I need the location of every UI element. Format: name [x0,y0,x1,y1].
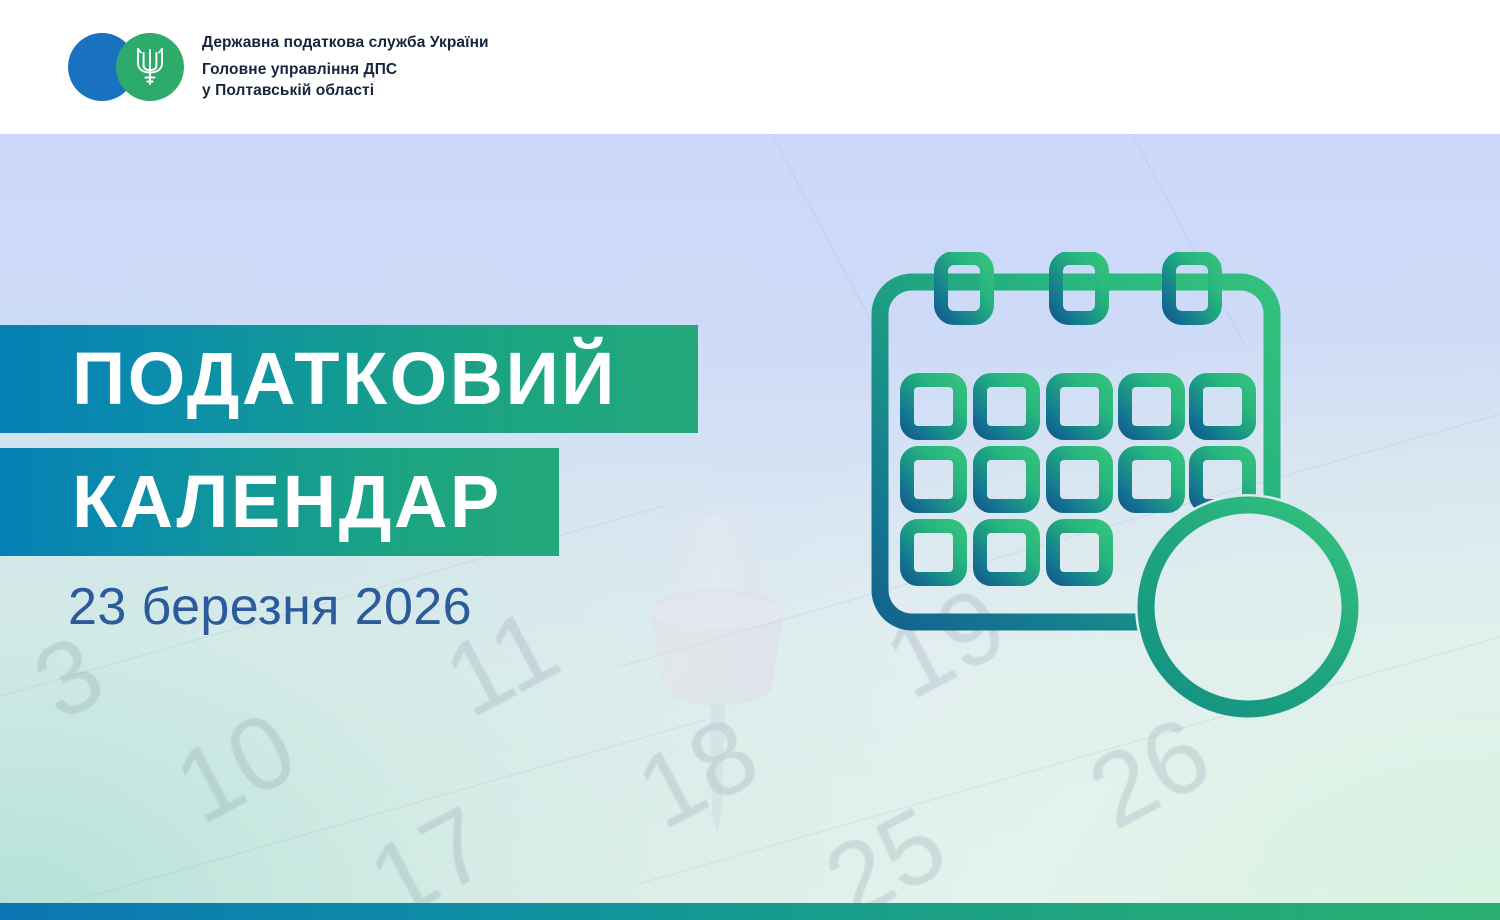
calendar-clock-icon [866,252,1386,730]
dps-logo [68,33,184,101]
bg-sheet-rule [0,719,705,920]
bg-day-number: 10 [157,689,315,848]
hero-title-line-2: КАЛЕНДАР [0,465,502,539]
pushpin-icon [612,514,822,854]
org-name-block: Державна податкова служба України Головн… [202,32,489,102]
org-title-region: у Полтавській області [202,80,489,102]
org-title-dept: Головне управління ДПС [202,59,489,81]
site-header: Державна податкова служба України Головн… [0,0,1500,134]
bg-day-number: 25 [807,784,965,920]
hero-date: 23 березня 2026 [68,577,472,637]
calendar-day-cells [907,380,1249,579]
title-bar-secondary: КАЛЕНДАР [0,448,559,556]
org-title-main: Державна податкова служба України [202,32,489,54]
bg-sheet-rule [594,134,886,348]
hero-title-line-1: ПОДАТКОВИЙ [0,342,617,416]
title-bar-primary: ПОДАТКОВИЙ [0,325,698,433]
bg-day-number: 17 [351,784,509,920]
footer-accent-bar [0,903,1500,920]
hero-title-block: ПОДАТКОВИЙ КАЛЕНДАР [0,325,698,556]
trident-icon [134,46,166,88]
tax-calendar-poster: 3 11 10 18 19 17 25 26 [0,0,1500,920]
clock-face [1146,505,1350,709]
